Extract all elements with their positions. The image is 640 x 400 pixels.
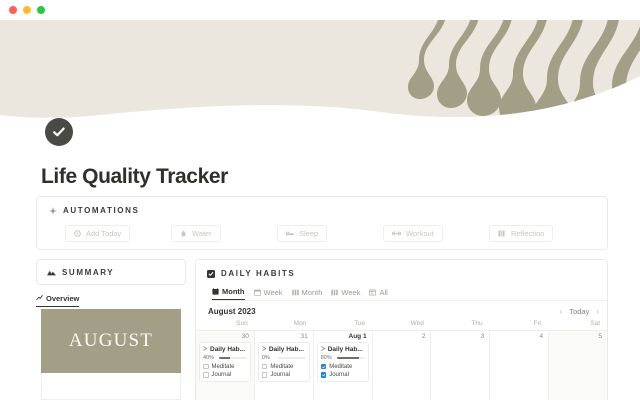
summary-title: SUMMARY: [62, 268, 114, 277]
weekday-label: Sat: [548, 320, 607, 327]
view-tab-month-board[interactable]: Month: [292, 288, 323, 300]
automation-reflection-button[interactable]: Reflection: [489, 225, 553, 242]
habit-entry-card[interactable]: Daily Hab... 80% Meditate: [317, 342, 369, 382]
habit-progress: 0%: [262, 355, 306, 361]
daily-habits-title: DAILY HABITS: [221, 269, 295, 278]
habit-item-label: Meditate: [270, 364, 293, 370]
checkbox-icon: [207, 270, 215, 278]
habit-item[interactable]: Journal: [203, 372, 247, 378]
habit-card-title: Daily Hab...: [210, 346, 245, 353]
maximize-button[interactable]: [37, 6, 45, 14]
calendar-day-cell[interactable]: 31 Daily Hab... 0%: [255, 331, 314, 400]
automation-button-label: Water: [192, 229, 212, 238]
habit-checkbox[interactable]: [321, 364, 327, 370]
habit-item[interactable]: Meditate: [203, 364, 247, 370]
habit-progress-label: 80%: [321, 355, 334, 361]
automation-buttons-row: Add Today Water: [49, 225, 595, 242]
minimize-button[interactable]: [23, 6, 31, 14]
habit-progress-bar: [219, 357, 247, 359]
calendar-day-number: 30: [199, 333, 251, 342]
view-tab-label: All: [379, 288, 387, 297]
view-tab-label: Week: [264, 288, 283, 297]
close-button[interactable]: [9, 6, 17, 14]
summary-tabs: Overview: [36, 288, 186, 304]
summary-tab-overview[interactable]: Overview: [36, 294, 79, 307]
habit-item-label: Journal: [329, 372, 349, 378]
calendar-day-cell[interactable]: 30 Daily Hab... 40%: [196, 331, 255, 400]
calendar-day-number: 4: [493, 333, 545, 342]
calendar-day-cell[interactable]: 5: [549, 331, 607, 400]
automation-workout-button[interactable]: Workout: [383, 225, 443, 242]
view-tab-all-table[interactable]: All: [369, 288, 387, 300]
weekday-label: Thu: [431, 320, 490, 327]
view-tab-label: Month: [302, 288, 323, 297]
view-tab-week-board[interactable]: Week: [331, 288, 360, 300]
droplet-icon: [180, 230, 187, 237]
habit-checkbox[interactable]: [262, 364, 268, 370]
page-chevron-icon: [203, 346, 208, 353]
habit-item-label: Meditate: [212, 364, 235, 370]
today-button[interactable]: Today: [569, 307, 589, 316]
weekday-label: Fri: [490, 320, 549, 327]
chevron-left-icon[interactable]: ‹: [560, 307, 563, 316]
habit-progress-label: 40%: [203, 355, 216, 361]
view-tab-month-calendar[interactable]: Month: [212, 287, 245, 300]
habit-entry-card[interactable]: Daily Hab... 40% Meditate Journal: [199, 342, 251, 382]
automation-sleep-button[interactable]: Sleep: [277, 225, 327, 242]
habit-checkbox[interactable]: [203, 372, 209, 378]
habit-item-label: Journal: [270, 372, 290, 378]
board-icon: [292, 289, 299, 296]
calendar-grid: 30 Daily Hab... 40%: [196, 330, 607, 400]
automation-button-label: Add Today: [86, 229, 121, 238]
habit-item-label: Journal: [212, 372, 232, 378]
automations-header: AUTOMATIONS: [49, 206, 595, 215]
calendar-icon: [212, 288, 219, 295]
calendar-day-number: Aug 1: [317, 333, 369, 342]
calendar-day-cell[interactable]: 3: [431, 331, 490, 400]
mountain-icon: [47, 269, 56, 276]
summary-panel-header: SUMMARY: [36, 259, 186, 285]
weekday-label: Mon: [255, 320, 314, 327]
calendar-day-cell[interactable]: 2: [373, 331, 432, 400]
automation-water-button[interactable]: Water: [171, 225, 221, 242]
weekday-label: Sun: [196, 320, 255, 327]
chevron-right-icon[interactable]: ›: [596, 307, 599, 316]
view-tab-label: Week: [341, 288, 360, 297]
summary-tab-label: Overview: [46, 294, 79, 303]
calendar-day-cell[interactable]: 4: [490, 331, 549, 400]
habit-progress-bar: [278, 357, 306, 359]
calendar-day-cell[interactable]: Aug 1 Daily Hab... 80%: [314, 331, 373, 400]
august-banner: AUGUST: [41, 309, 181, 373]
habit-entry-card[interactable]: Daily Hab... 0% Meditate Journal: [258, 342, 310, 382]
weekday-label: Wed: [372, 320, 431, 327]
habit-item[interactable]: Journal: [262, 372, 306, 378]
habit-progress: 40%: [203, 355, 247, 361]
habit-card-title: Daily Hab...: [328, 346, 363, 353]
habit-item[interactable]: Meditate: [262, 364, 306, 370]
habit-item[interactable]: Journal: [321, 372, 365, 378]
automation-add-today-button[interactable]: Add Today: [65, 225, 130, 242]
automation-button-label: Sleep: [299, 229, 318, 238]
automation-button-label: Reflection: [511, 229, 544, 238]
daily-habits-panel: DAILY HABITS Month: [195, 259, 608, 400]
habit-checkbox[interactable]: [203, 364, 209, 370]
page-title: Life Quality Tracker: [41, 165, 228, 189]
habit-card-title: Daily Hab...: [269, 346, 304, 353]
view-tab-label: Month: [222, 287, 245, 296]
page-chevron-icon: [262, 346, 267, 353]
weekday-label: Tue: [313, 320, 372, 327]
automations-title: AUTOMATIONS: [63, 206, 139, 215]
habit-checkbox[interactable]: [262, 372, 268, 378]
calendar-month-label: August 2023: [208, 307, 256, 316]
board-icon: [331, 289, 338, 296]
automations-panel: AUTOMATIONS Add Today: [36, 196, 608, 250]
dumbbell-icon: [392, 230, 401, 237]
check-circle-icon: [45, 118, 73, 146]
calendar-weekday-header: Sun Mon Tue Wed Thu Fri Sat: [196, 320, 607, 330]
habit-progress-label: 0%: [262, 355, 275, 361]
page-content: Life Quality Tracker AUTOMATIONS: [0, 100, 640, 400]
summary-content-area: [41, 373, 181, 400]
book-icon: [498, 230, 506, 237]
calendar-day-number: 2: [376, 333, 428, 342]
habit-item-label: Meditate: [329, 364, 352, 370]
calendar-toolbar: August 2023 ‹ Today ›: [196, 301, 607, 320]
table-icon: [369, 289, 376, 296]
page-chevron-icon: [321, 346, 326, 353]
daily-habits-header: DAILY HABITS: [196, 260, 607, 278]
chart-icon: [36, 294, 43, 303]
calendar-day-number: 3: [434, 333, 486, 342]
daily-habits-view-tabs: Month Week: [212, 287, 607, 301]
august-banner-text: AUGUST: [69, 330, 153, 352]
habit-item[interactable]: Meditate: [321, 364, 365, 370]
habit-progress-bar: [337, 357, 365, 359]
app-window: Life Quality Tracker AUTOMATIONS: [0, 0, 640, 400]
calendar-day-number: 31: [258, 333, 310, 342]
window-titlebar: [0, 0, 640, 20]
habit-progress: 80%: [321, 355, 365, 361]
sparkle-icon: [49, 207, 57, 215]
bed-icon: [286, 230, 294, 237]
habit-checkbox[interactable]: [321, 372, 327, 378]
calendar-icon: [254, 289, 261, 296]
automation-button-label: Workout: [406, 229, 434, 238]
plus-circle-icon: [74, 230, 81, 237]
calendar-day-number: 5: [552, 333, 604, 342]
view-tab-week-calendar[interactable]: Week: [254, 288, 283, 300]
